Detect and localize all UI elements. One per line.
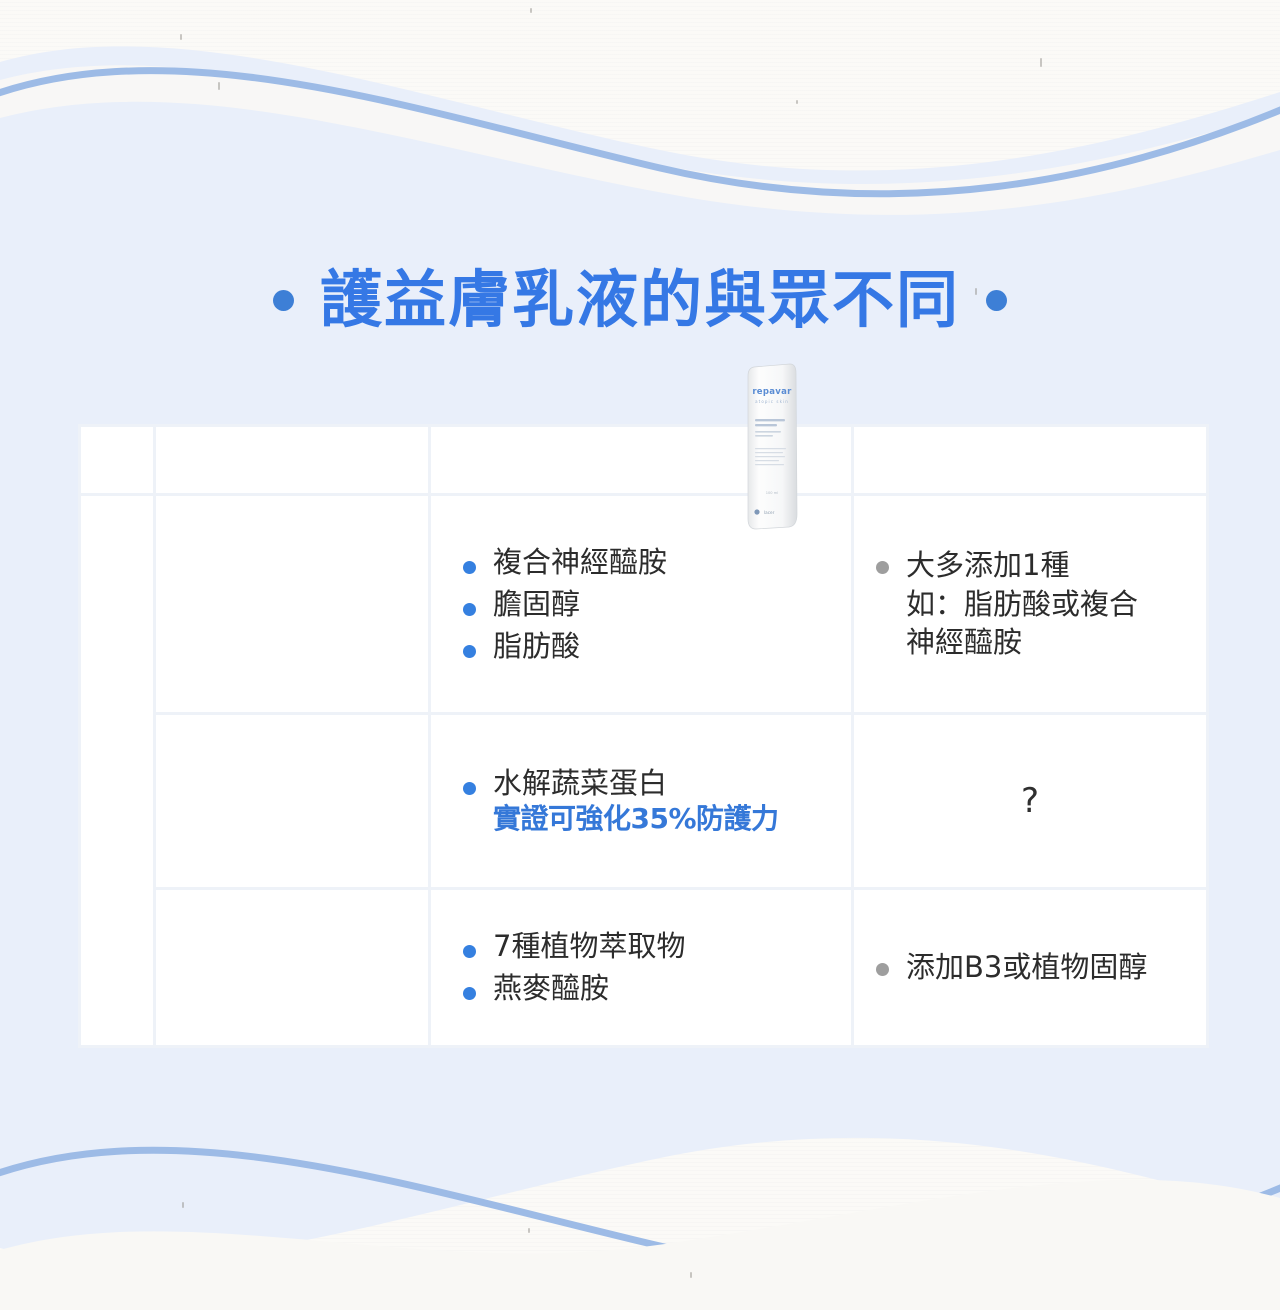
group-label-vertical-text: 主 成 分 [81,704,153,836]
theirs-line-1: 大多添加1種 [906,546,1206,585]
cell-ours-moisture: 複合神經醯胺 膽固醇 脂肪酸 [431,496,851,712]
speckle [1040,58,1042,67]
header-corner-blank-2 [156,427,428,493]
row-label-sub: (磚塊) [156,811,428,837]
comparison-table: 乳 霜 ( 牆 牆 霜 ) 他 牌 主 成 分 保濕鎖水 (水泥) 複合神經醯胺… [78,424,1209,1048]
row-label-sub: (水泥) [156,614,428,640]
ours-highlight-claim: 實證可強化35%防護力 [493,805,851,833]
cell-ours-soothe: 7種植物萃取物 燕麥醯胺 [431,890,851,1045]
header-theirs: 他 牌 [854,427,1206,493]
row-label-moisture: 保濕鎖水 (水泥) [156,496,428,712]
speckle [528,1228,530,1233]
row-label-main: 保濕鎖水 [156,568,428,607]
svg-text:atopic skin: atopic skin [755,399,789,404]
header-corner-blank-1 [81,427,153,493]
speckle [690,1272,692,1278]
theirs-line-3: 神經醯胺 [906,623,1206,662]
title-bullet-right-icon [986,290,1007,311]
row-label-main: 舒緩乾燥癢 [156,945,428,984]
table-row: 肌膚防護力 (磚塊) 水解蔬菜蛋白 實證可強化35%防護力 ? [81,715,1206,887]
group-label-char-1: 主 [81,704,153,748]
cell-theirs-barrier-unknown: ? [854,715,1206,887]
svg-text:repavar: repavar [752,387,792,397]
table-row: 主 成 分 保濕鎖水 (水泥) 複合神經醯胺 膽固醇 脂肪酸 大多 [81,496,1206,712]
row-label-main: 肌膚防護力 [156,765,428,804]
cell-ours-barrier: 水解蔬菜蛋白 實證可強化35%防護力 [431,715,851,887]
wave-fill-upper [0,65,1280,215]
list-item: 燕麥醯胺 [459,974,851,1003]
theirs-bullet-list: 大多添加1種 如：脂肪酸或複合 神經醯胺 [854,532,1206,677]
wave-line-bottom [0,1150,1280,1271]
theirs-bullet-list: 添加B3或植物固醇 [854,934,1206,1001]
ours-bullet-text: 水解蔬菜蛋白 [493,769,851,798]
page-title-row: 護益膚乳液的與眾不同 [0,255,1280,345]
list-item: 膽固醇 [459,590,851,619]
list-item: 水解蔬菜蛋白 實證可強化35%防護力 [459,769,851,833]
wave-line-top [0,71,1280,194]
list-item: 複合神經醯胺 [459,548,851,577]
speckle [180,34,182,40]
row-label-soothe: 舒緩乾燥癢 [156,890,428,1045]
page-title: 護益膚乳液的與眾不同 [320,269,960,331]
table-row: 舒緩乾燥癢 7種植物萃取物 燕麥醯胺 添加B3或植物固醇 [81,890,1206,1045]
ours-bullet-list: 7種植物萃取物 燕麥醯胺 [431,905,851,1030]
group-label-main-ingredients: 主 成 分 [81,496,153,1045]
cell-theirs-soothe: 添加B3或植物固醇 [854,890,1206,1045]
group-label-char-2: 成 [81,748,153,792]
header-ours: 乳 霜 ( 牆 牆 霜 ) [431,427,851,493]
speckle [218,82,220,90]
table-header-row: 乳 霜 ( 牆 牆 霜 ) 他 牌 [81,427,1206,493]
speckle [796,100,798,104]
group-label-char-3: 分 [81,793,153,837]
list-item: 7種植物萃取物 [459,932,851,961]
speckle [530,8,532,13]
wave-fill-bottom [0,1180,1280,1310]
title-bullet-left-icon [273,290,294,311]
theirs-line-2: 如：脂肪酸或複合 [906,585,1206,624]
ours-bullet-list: 水解蔬菜蛋白 實證可強化35%防護力 [431,742,851,860]
list-item: 大多添加1種 如：脂肪酸或複合 神經醯胺 [872,546,1206,663]
cell-theirs-moisture: 大多添加1種 如：脂肪酸或複合 神經醯胺 [854,496,1206,712]
list-item: 脂肪酸 [459,632,851,661]
list-item: 添加B3或植物固醇 [872,948,1206,987]
ours-bullet-list: 複合神經醯胺 膽固醇 脂肪酸 [431,521,851,688]
speckle [182,1202,184,1208]
row-label-barrier: 肌膚防護力 (磚塊) [156,715,428,887]
